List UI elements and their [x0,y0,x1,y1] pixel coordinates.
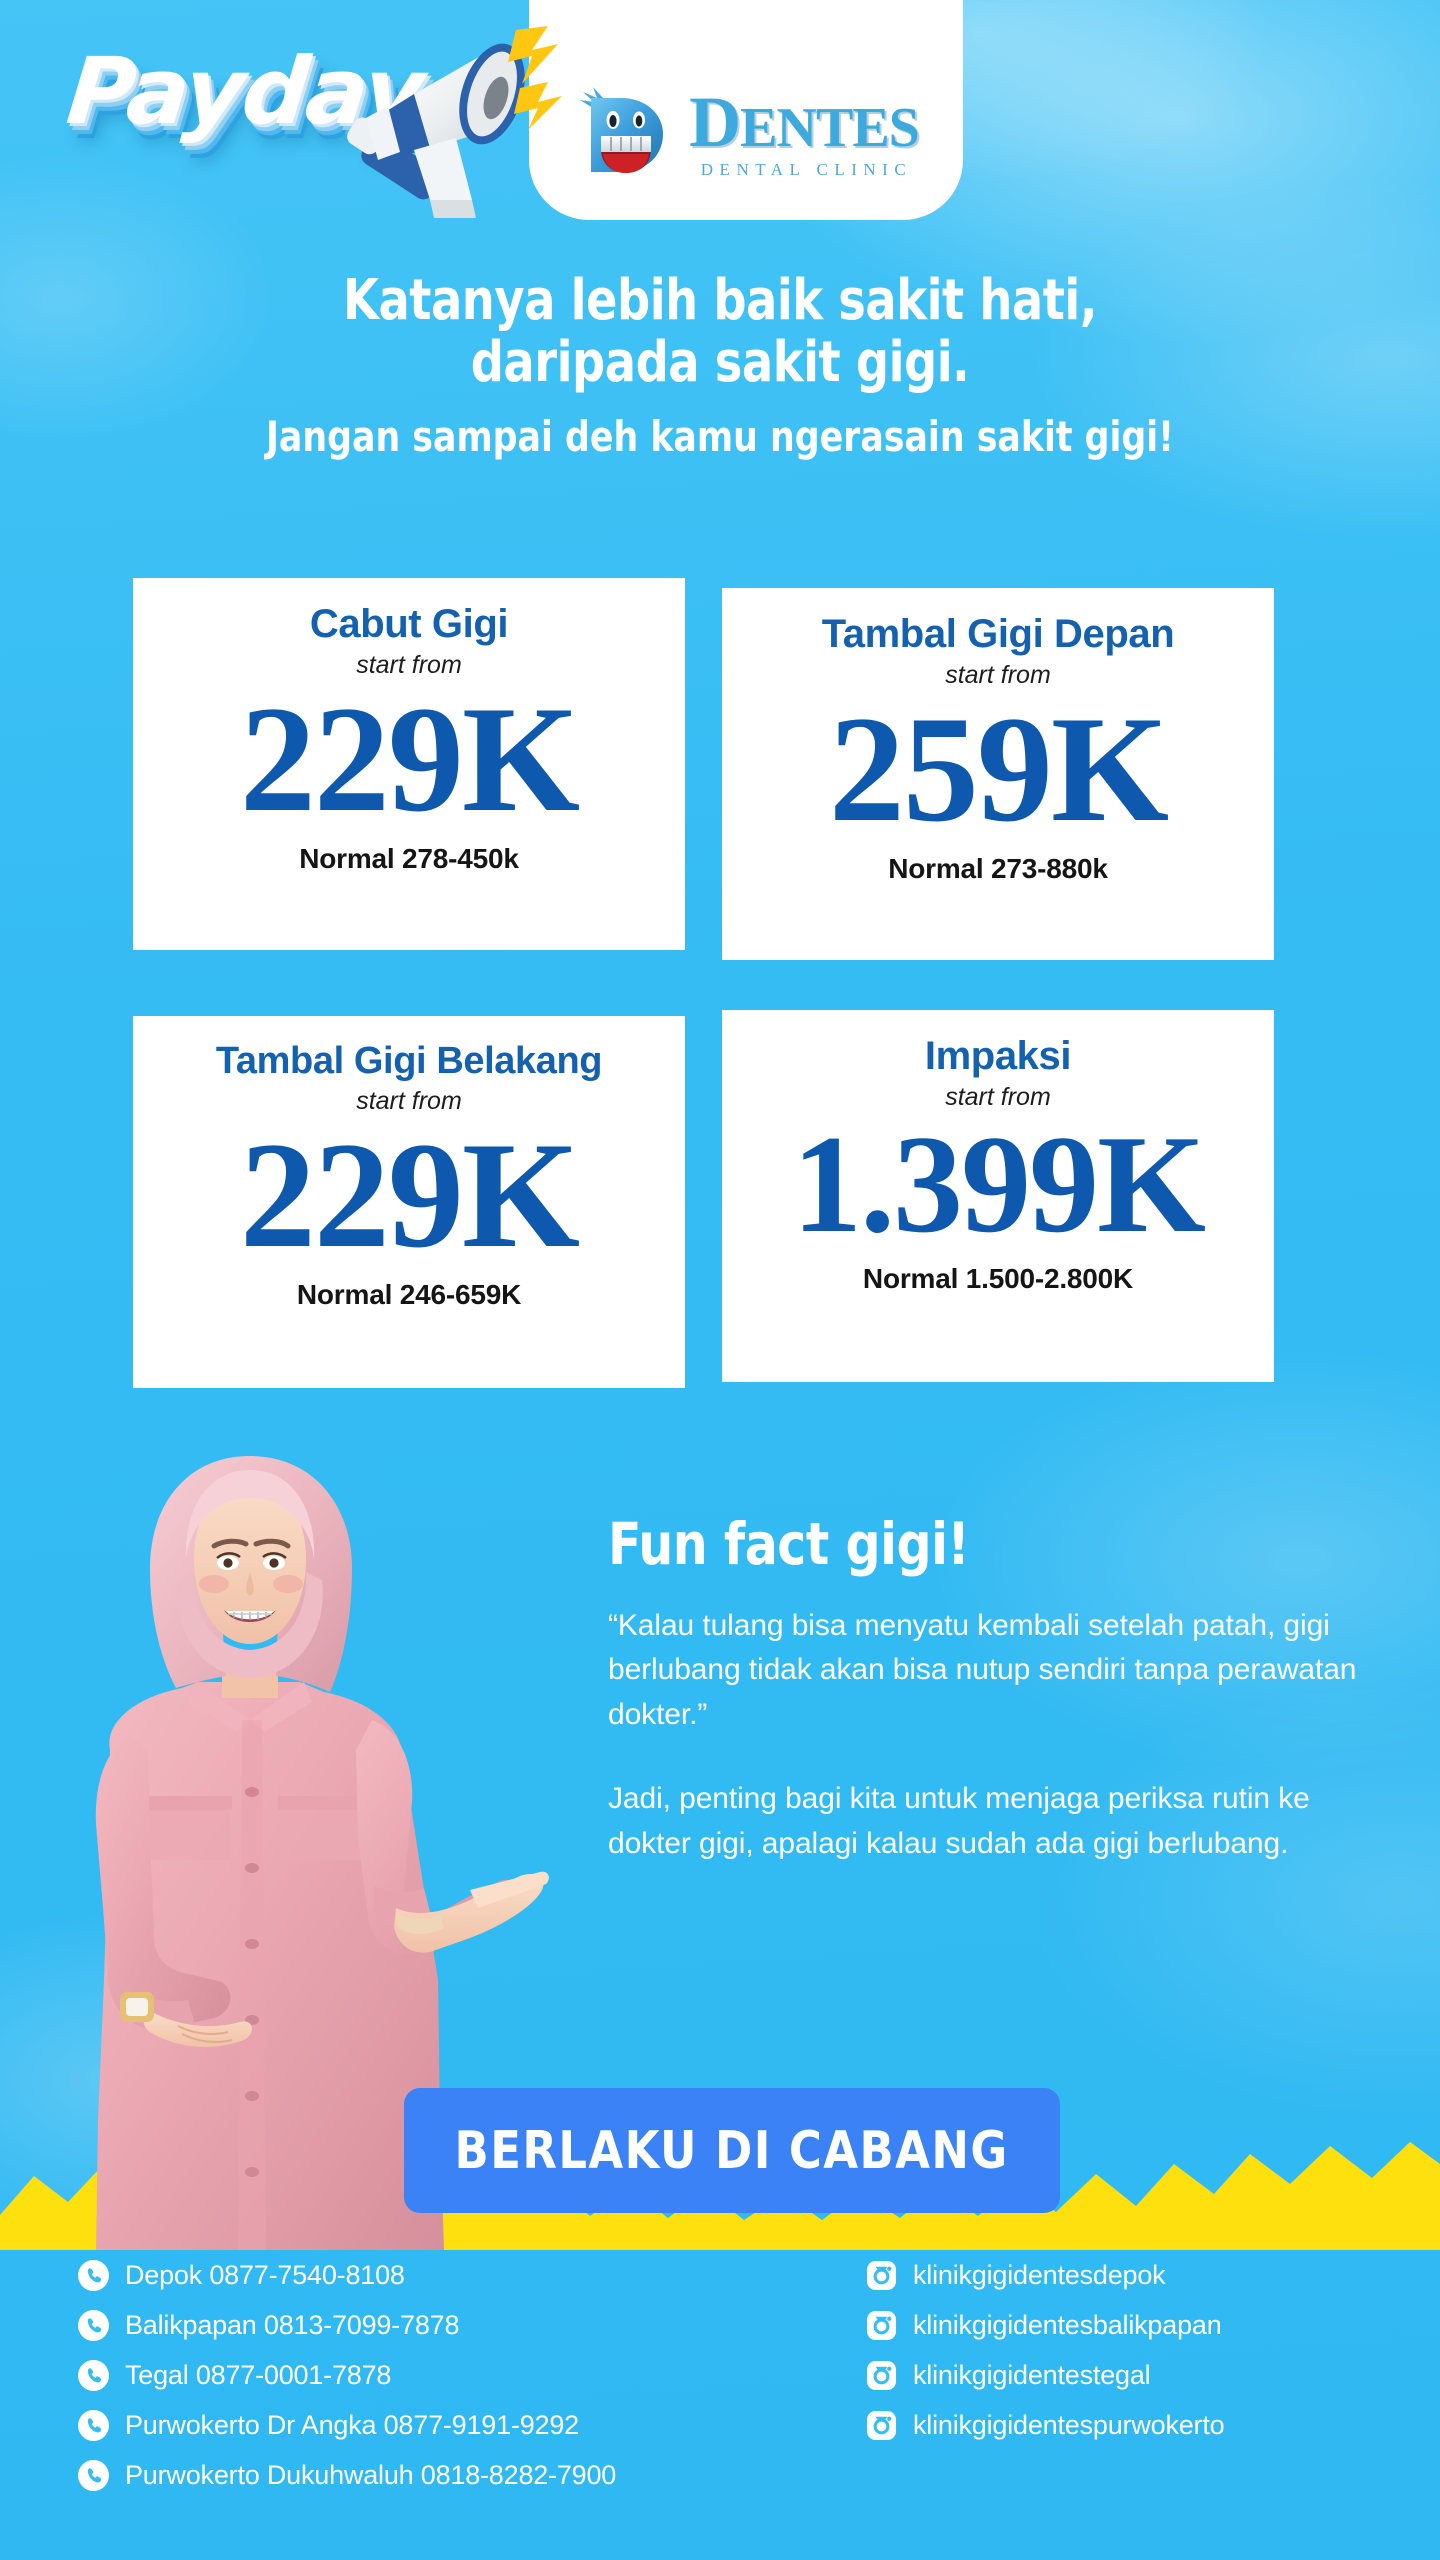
list-item-label: klinikgigidentesdepok [913,2260,1165,2291]
list-item[interactable]: Tegal 0877-0001-7878 [78,2350,616,2400]
fun-fact-heading: Fun fact gigi! [608,1510,1351,1578]
price-card-price: 1.399K [792,1114,1204,1257]
instagram-icon [866,2410,897,2441]
price-card[interactable]: Tambal Gigi Belakang start from 229K Nor… [133,1016,685,1388]
price-card-normal: Normal 246-659K [297,1279,521,1311]
list-item[interactable]: klinikgigidentespurwokerto [866,2400,1224,2450]
instagram-icon [866,2360,897,2391]
berlaku-di-cabang-label: BERLAKU DI CABANG [455,2121,1009,2181]
phone-icon [78,2310,109,2341]
price-card[interactable]: Cabut Gigi start from 229K Normal 278-45… [133,578,685,950]
list-item[interactable]: klinikgigidentesdepok [866,2250,1224,2300]
price-card-price: 229K [240,1118,578,1273]
logo-panel: DENTES DENTAL CLINIC [529,0,963,220]
list-item-label: klinikgigidentestegal [913,2360,1150,2391]
instagram-icon [866,2310,897,2341]
price-card-title: Cabut Gigi [310,602,508,647]
dentes-tooth-mascot-logo-icon [573,82,677,186]
list-item[interactable]: Purwokerto Dr Angka 0877-9191-9292 [78,2400,616,2450]
fun-fact-quote: “Kalau tulang bisa menyatu kembali setel… [608,1604,1398,1737]
megaphone-icon [352,22,582,222]
phone-contact-list: Depok 0877-7540-8108 Balikpapan 0813-709… [78,2250,616,2500]
instagram-handle-list: klinikgigidentesdepok klinikgigidentesba… [866,2250,1224,2450]
price-card-normal: Normal 278-450k [299,843,519,875]
list-item[interactable]: klinikgigidentestegal [866,2350,1224,2400]
phone-icon [78,2410,109,2441]
footer: Depok 0877-7540-8108 Balikpapan 0813-709… [0,2242,1440,2560]
instagram-icon [866,2260,897,2291]
list-item-label: klinikgigidentespurwokerto [913,2410,1224,2441]
logo-wordmark: DENTES [689,88,919,156]
price-card-price: 259K [829,692,1167,847]
list-item-label: Purwokerto Dukuhwaluh 0818-8282-7900 [125,2460,616,2491]
fun-fact-note: Jadi, penting bagi kita untuk menjaga pe… [608,1777,1398,1866]
headline-line-1: Katanya lebih baik sakit hati, [58,270,1383,332]
list-item[interactable]: Depok 0877-7540-8108 [78,2250,616,2300]
price-card-normal: Normal 273-880k [888,853,1108,885]
fun-fact-block: Fun fact gigi! “Kalau tulang bisa menyat… [608,1510,1398,1866]
list-item[interactable]: Purwokerto Dukuhwaluh 0818-8282-7900 [78,2450,616,2500]
price-card[interactable]: Tambal Gigi Depan start from 259K Normal… [722,588,1274,960]
list-item-label: Purwokerto Dr Angka 0877-9191-9292 [125,2410,579,2441]
list-item-label: klinikgigidentesbalikpapan [913,2310,1222,2341]
berlaku-di-cabang-button[interactable]: BERLAKU DI CABANG [404,2088,1060,2213]
logo-tagline: DENTAL CLINIC [696,160,912,180]
price-card-normal: Normal 1.500-2.800K [863,1263,1133,1295]
list-item-label: Tegal 0877-0001-7878 [125,2360,391,2391]
list-item-label: Depok 0877-7540-8108 [125,2260,405,2291]
headline-line-3: Jangan sampai deh kamu ngerasain sakit g… [58,411,1383,464]
list-item-label: Balikpapan 0813-7099-7878 [125,2310,459,2341]
list-item[interactable]: Balikpapan 0813-7099-7878 [78,2300,616,2350]
phone-icon [78,2360,109,2391]
price-card-price: 229K [240,682,578,837]
price-card-title: Impaksi [925,1034,1071,1079]
list-item[interactable]: klinikgigidentesbalikpapan [866,2300,1224,2350]
headline-block: Katanya lebih baik sakit hati, daripada … [0,270,1440,464]
logo-wordmark-cap: D [689,82,740,162]
price-card-title: Tambal Gigi Belakang [216,1040,602,1083]
phone-icon [78,2460,109,2491]
logo-wordmark-rest: ENTES [740,97,919,159]
price-card[interactable]: Impaksi start from 1.399K Normal 1.500-2… [722,1010,1274,1382]
phone-icon [78,2260,109,2291]
headline-line-2: daripada sakit gigi. [58,332,1383,394]
price-card-title: Tambal Gigi Depan [822,612,1175,657]
